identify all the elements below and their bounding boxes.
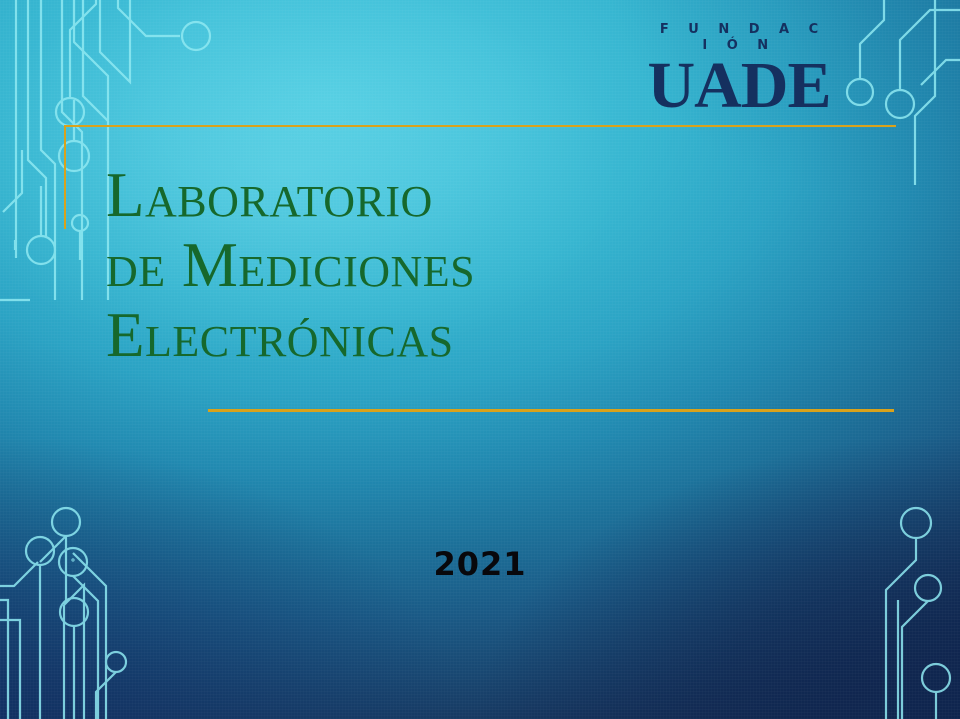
title-line-1: Laboratorio	[106, 160, 786, 230]
circuit-bottom-right-icon	[886, 508, 950, 719]
title-line-2: de Mediciones	[106, 230, 786, 300]
gold-divider-rule	[208, 409, 894, 412]
logo-wordmark: UADE	[641, 55, 837, 117]
year-label: 2021	[0, 545, 960, 583]
page-title: Laboratorio de Mediciones Electrónicas	[106, 160, 786, 370]
uade-logo: F U N D A C I Ó N UADE	[641, 22, 837, 117]
title-line-3: Electrónicas	[106, 300, 786, 370]
title-slide: F U N D A C I Ó N UADE Laboratorio de Me…	[0, 0, 960, 719]
circuit-bottom-left-icon	[0, 508, 126, 719]
